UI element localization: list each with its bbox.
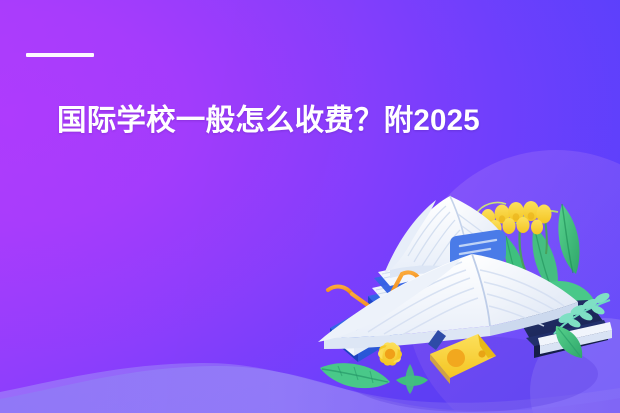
books-and-plants-illustration xyxy=(310,178,620,413)
title-accent-rule xyxy=(26,53,94,57)
banner-image: 国际学校一般怎么收费？附2025 xyxy=(0,0,620,413)
page-title: 国际学校一般怎么收费？附2025 xyxy=(57,104,577,138)
